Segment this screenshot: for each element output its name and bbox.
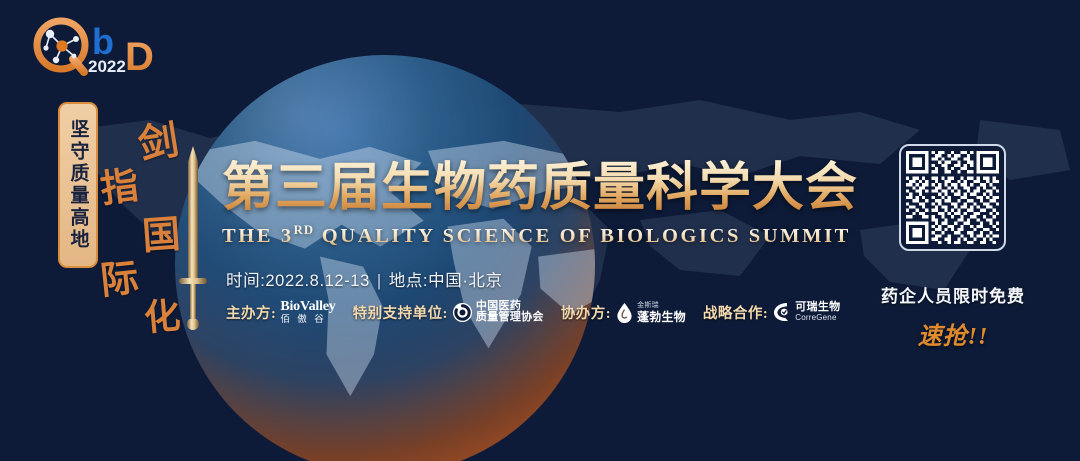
cpma-logo: 中国医药 质量管理协会 — [452, 301, 544, 323]
svg-text:2022: 2022 — [88, 57, 126, 76]
partner-label: 主办方: — [226, 302, 276, 323]
cta-grab-now: 速抢!! — [868, 316, 1038, 351]
conference-poster: b D 2022 坚守质量高地 剑 指 国 际 化 — [0, 0, 1080, 461]
headline-en-pre: THE 3 — [222, 225, 294, 247]
time-label: 时间: — [226, 272, 265, 290]
headline-en: THE 3RD QUALITY SCIENCE OF BIOLOGICS SUM… — [222, 223, 882, 248]
partner-label: 协办方: — [561, 302, 611, 323]
partner-label: 战略合作: — [703, 302, 768, 323]
calligraphy-char-2: 指 — [97, 154, 141, 213]
partner-co-organizer: 协办方: 金斯瑞 蓬勃生物 — [561, 302, 686, 323]
partner-strategic: 战略合作: 可瑞生物 CorreGene — [703, 301, 841, 323]
calligraphy-char-4: 际 — [97, 246, 141, 305]
place-label: 地点: — [389, 272, 428, 290]
biovalley-logo: BioValley 佰 傲 谷 — [280, 300, 335, 325]
partner-special-support: 特别支持单位: 中国医药 质量管理协会 — [353, 301, 544, 323]
headline-en-post: QUALITY SCIENCE OF BIOLOGICS SUMMIT — [314, 225, 851, 247]
headline-cn: 第三届生物药质量科学大会 — [222, 160, 882, 218]
circular-arrow-icon — [452, 302, 473, 323]
corregene-logo: 可瑞生物 CorreGene — [772, 301, 840, 323]
sword-icon — [176, 146, 210, 334]
calligraphy-char-1: 剑 — [134, 107, 183, 171]
cta-free-notice: 药企人员限时免费 — [868, 282, 1038, 307]
event-details: 时间:2022.8.12-13|地点:中国·北京 — [226, 267, 503, 291]
corregene-logo-line1: 可瑞生物 — [795, 302, 840, 313]
droplet-icon — [615, 302, 634, 323]
boxed-vertical-slogan-text: 坚守质量高地 — [69, 119, 88, 251]
globe-highlight — [175, 55, 595, 461]
biovalley-logo-line2: 佰 傲 谷 — [280, 315, 335, 325]
headline: 第三届生物药质量科学大会 THE 3RD QUALITY SCIENCE OF … — [222, 160, 882, 248]
globe-graphic — [175, 55, 595, 461]
cta-block: 药企人员限时免费 速抢!! — [868, 282, 1038, 351]
details-separator: | — [377, 272, 382, 290]
probio-logo-line2: 蓬勃生物 — [637, 311, 686, 323]
partner-organizer: 主办方: BioValley 佰 傲 谷 — [226, 300, 336, 325]
corregene-mark-icon — [772, 301, 792, 323]
registration-qr-code[interactable] — [899, 144, 1006, 251]
biovalley-logo-line1: BioValley — [280, 300, 335, 314]
partner-label: 特别支持单位: — [353, 302, 448, 323]
qbd-2022-logo: b D 2022 — [26, 14, 176, 80]
headline-en-ordinal: RD — [294, 223, 314, 237]
corregene-logo-line2: CorreGene — [795, 314, 840, 322]
probio-logo: 金斯瑞 蓬勃生物 — [615, 302, 686, 323]
place-value: 中国·北京 — [428, 272, 503, 290]
partners-row: 主办方: BioValley 佰 傲 谷 特别支持单位: 中国医药 质量管理协会 — [226, 297, 866, 327]
boxed-vertical-slogan: 坚守质量高地 — [58, 102, 98, 268]
probio-logo-line1: 金斯瑞 — [637, 302, 686, 309]
svg-text:D: D — [125, 35, 154, 79]
cpma-logo-line2: 质量管理协会 — [476, 312, 544, 323]
time-value: 2022.8.12-13 — [265, 272, 369, 290]
svg-text:b: b — [92, 21, 114, 62]
